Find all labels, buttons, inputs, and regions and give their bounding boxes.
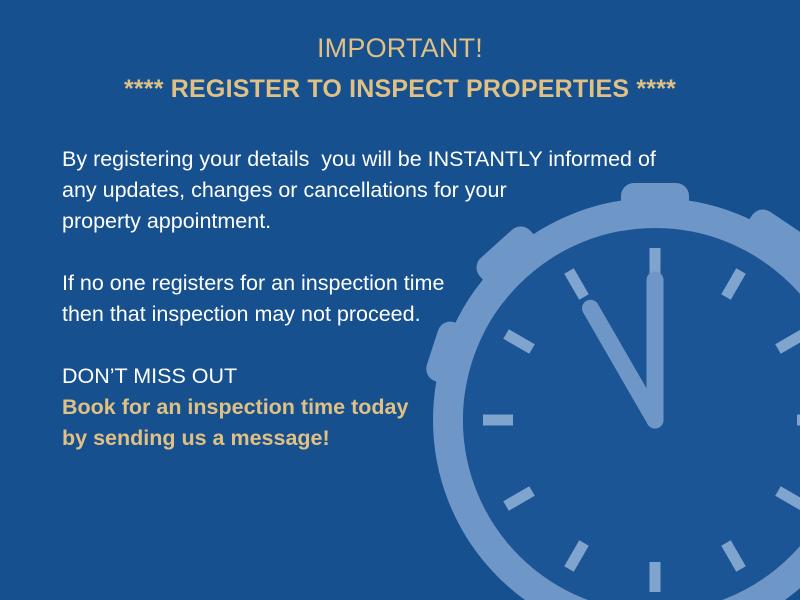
paragraph-spacer bbox=[62, 330, 722, 361]
cta-send-message: by sending us a message! bbox=[62, 423, 722, 454]
slide-content: IMPORTANT! **** REGISTER TO INSPECT PROP… bbox=[0, 0, 800, 600]
page-title: IMPORTANT! bbox=[0, 30, 800, 66]
paragraph-line: then that inspection may not proceed. bbox=[62, 299, 722, 330]
paragraph-line: If no one registers for an inspection ti… bbox=[62, 268, 722, 299]
promotional-slide: IMPORTANT! **** REGISTER TO INSPECT PROP… bbox=[0, 0, 800, 600]
cta-dont-miss-out: DON’T MISS OUT bbox=[62, 361, 722, 392]
page-subtitle: **** REGISTER TO INSPECT PROPERTIES **** bbox=[0, 70, 800, 108]
paragraph-no-registration-warning: If no one registers for an inspection ti… bbox=[62, 268, 722, 330]
cta-book-inspection: Book for an inspection time today bbox=[62, 392, 722, 423]
body-text-block: By registering your details you will be … bbox=[62, 144, 722, 454]
paragraph-line: By registering your details you will be … bbox=[62, 144, 722, 175]
call-to-action-block: DON’T MISS OUT Book for an inspection ti… bbox=[62, 361, 722, 454]
paragraph-spacer bbox=[62, 237, 722, 268]
paragraph-line: property appointment. bbox=[62, 206, 722, 237]
paragraph-line: any updates, changes or cancellations fo… bbox=[62, 175, 722, 206]
heading-group: IMPORTANT! **** REGISTER TO INSPECT PROP… bbox=[0, 30, 800, 108]
paragraph-registering-details: By registering your details you will be … bbox=[62, 144, 722, 237]
